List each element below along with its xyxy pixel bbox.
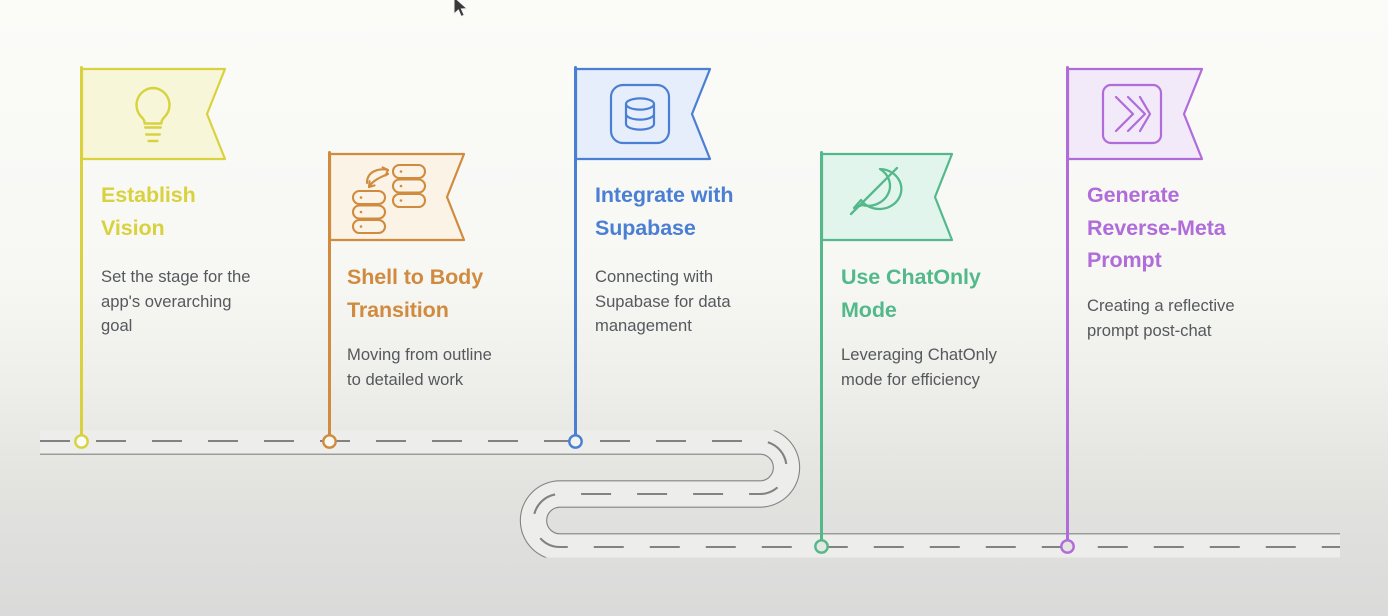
- milestone-marker[interactable]: [813, 538, 830, 555]
- milestone-title: Use ChatOnly Mode: [841, 261, 1041, 326]
- milestone-description: Set the stage for the app's overarching …: [101, 265, 301, 339]
- milestone-description: Leveraging ChatOnly mode for efficiency: [841, 343, 1046, 392]
- milestone-banner: [81, 68, 226, 160]
- roadmap-diagram: Establish Vision Set the stage for the a…: [0, 0, 1388, 616]
- milestone-description: Moving from outline to detailed work: [347, 343, 552, 392]
- milestone-banner: [329, 153, 465, 241]
- milestone-title: Shell to Body Transition: [347, 261, 547, 326]
- milestone-marker[interactable]: [1059, 538, 1076, 555]
- milestone-marker[interactable]: [73, 433, 90, 450]
- milestone-title: Establish Vision: [101, 179, 276, 244]
- milestone-description: Creating a reflective prompt post-chat: [1087, 294, 1297, 343]
- milestone-marker[interactable]: [321, 433, 338, 450]
- milestone-banner: [575, 68, 711, 160]
- milestone-description: Connecting with Supabase for data manage…: [595, 265, 795, 339]
- milestone-title: Integrate with Supabase: [595, 179, 810, 244]
- milestone-marker[interactable]: [567, 433, 584, 450]
- milestone-banner: [1067, 68, 1203, 160]
- milestone-title: Generate Reverse-Meta Prompt: [1087, 179, 1297, 277]
- milestone-banner: [821, 153, 953, 241]
